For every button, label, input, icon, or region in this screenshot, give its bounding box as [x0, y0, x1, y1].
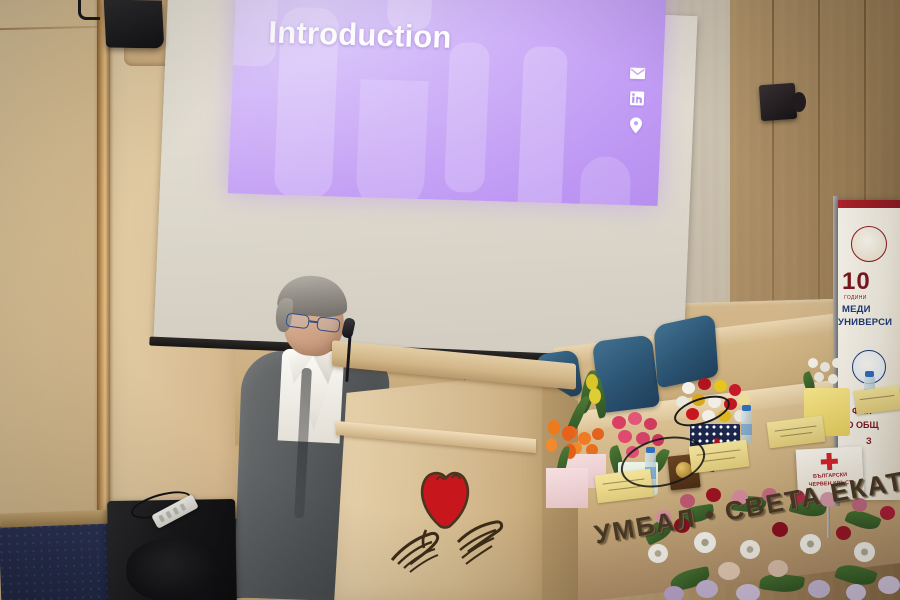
conference-room-photo: Introduction: [0, 0, 900, 600]
slide-watermark-shape: [355, 79, 429, 206]
university-crest-icon: [851, 226, 887, 262]
banner-line-1: МЕДИ: [842, 304, 871, 315]
slide-contact-icons: [628, 67, 646, 133]
banner-anniversary-sub: ГОДИНИ: [844, 295, 867, 301]
slide-title: Introduction: [268, 14, 453, 55]
location-pin-icon: [629, 117, 642, 133]
presentation-slide: Introduction: [228, 0, 667, 206]
speaker-cone: [126, 537, 219, 600]
slide-watermark-shape: [579, 156, 632, 206]
email-icon: [630, 67, 645, 79]
red-cross-icon: [820, 453, 838, 471]
speaker-mount-knob: [792, 92, 806, 112]
banner-anniversary-number: 10: [842, 268, 900, 296]
banner-top-bar: [838, 200, 900, 208]
heart-in-hands-logo: [388, 464, 513, 574]
wall-speaker-left: [104, 0, 165, 48]
slide-watermark-shape: [517, 46, 568, 206]
gooseneck-microphone: [344, 318, 354, 380]
banner-line-2: УНИВЕРСИ: [838, 317, 892, 328]
slide-watermark-shape: [444, 42, 490, 193]
speaker-bracket: [78, 0, 100, 20]
banner-line-5: З: [866, 436, 872, 446]
lectern: [330, 352, 578, 600]
linkedin-icon: [629, 91, 644, 105]
